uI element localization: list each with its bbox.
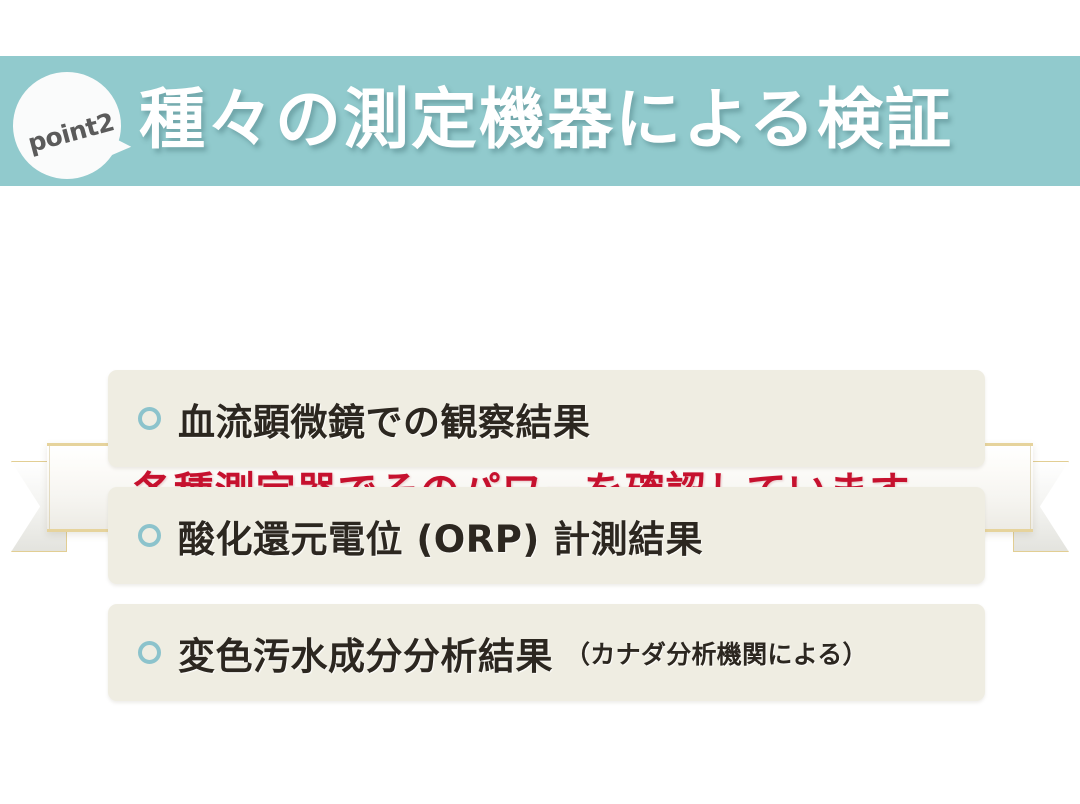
circle-outline-icon xyxy=(138,524,161,547)
list-item[interactable]: 変色汚水成分分析結果 （カナダ分析機関による） xyxy=(108,604,985,701)
list-item[interactable]: 酸化還元電位 (ORP) 計測結果 xyxy=(108,487,985,584)
list-item-label: 変色汚水成分分析結果 xyxy=(178,626,553,680)
page-title: 種々の測定機器による検証 xyxy=(139,56,953,186)
measurement-list: 血流顕微鏡での観察結果 酸化還元電位 (ORP) 計測結果 変色汚水成分分析結果… xyxy=(108,370,985,701)
point-badge: point2 xyxy=(13,72,121,179)
point-badge-label: point2 xyxy=(1,60,133,191)
ribbon-banner: 各種測定器でそのパワーを確認しています。 xyxy=(0,215,1080,350)
list-item-label: 血流顕微鏡での観察結果 xyxy=(178,392,591,446)
circle-outline-icon xyxy=(138,407,161,430)
circle-outline-icon xyxy=(138,641,161,664)
list-item-note: （カナダ分析機関による） xyxy=(565,635,868,671)
list-item-label: 酸化還元電位 (ORP) 計測結果 xyxy=(178,509,703,563)
list-item[interactable]: 血流顕微鏡での観察結果 xyxy=(108,370,985,467)
